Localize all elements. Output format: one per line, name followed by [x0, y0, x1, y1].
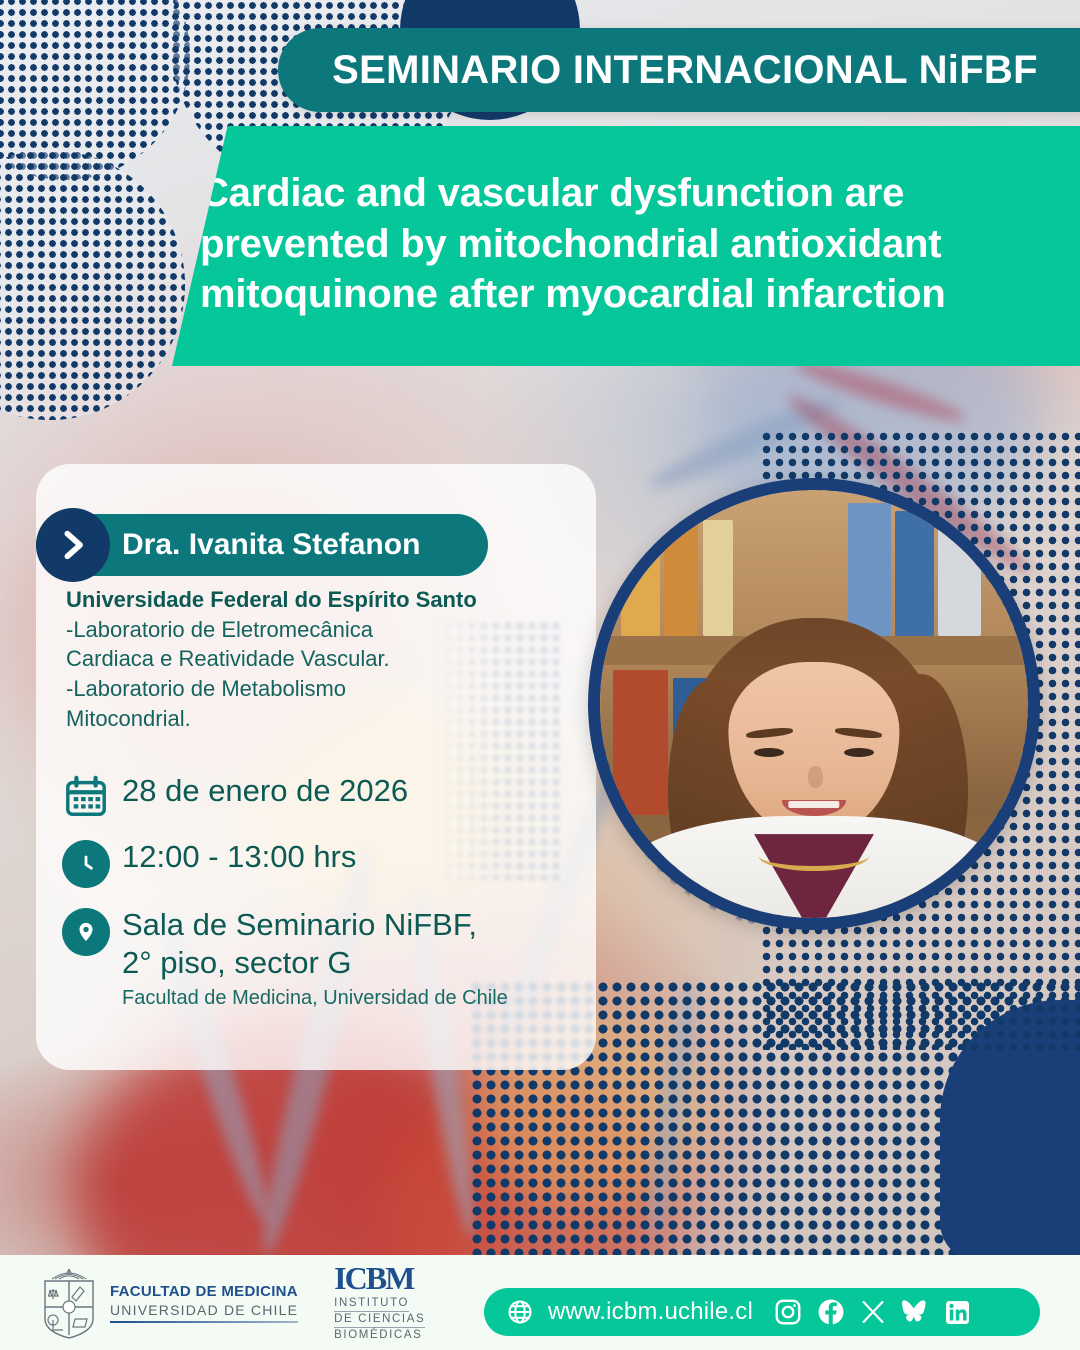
icbm-sub-2: DE CIENCIAS	[334, 1312, 425, 1328]
x-twitter-icon[interactable]	[859, 1298, 887, 1326]
globe-icon	[506, 1298, 534, 1326]
event-time: 12:00 - 13:00 hrs	[114, 838, 356, 876]
affiliation-lab-line-1: -Laboratorio de Eletromecânica	[66, 615, 536, 645]
website-url[interactable]: www.icbm.uchile.cl	[548, 1298, 753, 1326]
bluesky-icon[interactable]	[900, 1297, 930, 1327]
event-date-row: 28 de enero de 2026	[58, 772, 578, 820]
event-place-row: Sala de Seminario NiFBF, 2° piso, sector…	[58, 906, 578, 1010]
header-banner: SEMINARIO INTERNACIONAL NiFBF	[278, 28, 1080, 112]
uchile-logo: FACULTAD DE MEDICINA UNIVERSIDAD DE CHIL…	[40, 1267, 298, 1339]
linkedin-icon[interactable]	[943, 1298, 972, 1327]
event-place-sub: Facultad de Medicina, Universidad de Chi…	[122, 986, 508, 1010]
uchile-line-2: UNIVERSIDAD DE CHILE	[110, 1302, 298, 1318]
chevron-right-icon	[36, 508, 110, 582]
affiliation-university: Universidade Federal do Espírito Santo	[66, 586, 536, 615]
title-line-1: Cardiac and vascular dysfunction are	[200, 168, 946, 219]
seminar-poster: SEMINARIO INTERNACIONAL NiFBF Cardiac an…	[0, 0, 1080, 1350]
icbm-logo: ICBM INSTITUTO DE CIENCIAS BIOMÉDICAS	[334, 1262, 425, 1344]
event-date: 28 de enero de 2026	[114, 772, 408, 810]
header-banner-title: SEMINARIO INTERNACIONAL NiFBF	[332, 48, 1044, 93]
uchile-underline	[110, 1321, 298, 1323]
event-details: 28 de enero de 2026 12:00 - 13:00 hrs	[58, 772, 578, 1028]
speaker-portrait	[588, 478, 1040, 930]
event-place-line-2: 2° piso, sector G	[122, 944, 508, 982]
event-time-row: 12:00 - 13:00 hrs	[58, 838, 578, 888]
clock-icon	[62, 840, 110, 888]
event-place-line-1: Sala de Seminario NiFBF,	[122, 906, 508, 944]
icbm-wordmark: ICBM	[334, 1262, 425, 1294]
title-line-3: mitoquinone after myocardial infarction	[200, 269, 946, 320]
location-pin-icon	[62, 908, 110, 956]
title-line-2: prevented by mitochondrial antioxidant	[200, 219, 946, 270]
instagram-icon[interactable]	[773, 1297, 803, 1327]
affiliation-lab-line-4: Mitocondrial.	[66, 704, 536, 734]
icbm-sub-1: INSTITUTO	[334, 1296, 409, 1312]
affiliation-lab-line-2: Cardiaca e Reatividade Vascular.	[66, 644, 536, 674]
website-social-bar[interactable]: www.icbm.uchile.cl	[484, 1288, 1040, 1336]
icbm-sub-3: BIOMÉDICAS	[334, 1329, 422, 1341]
speaker-name: Dra. Ivanita Stefanon	[122, 528, 420, 562]
university-shield-icon	[40, 1267, 98, 1339]
affiliation-lab-line-3: -Laboratorio de Metabolismo	[66, 674, 536, 704]
calendar-icon	[58, 772, 114, 820]
facebook-icon[interactable]	[816, 1297, 846, 1327]
uchile-line-1: FACULTAD DE MEDICINA	[110, 1283, 298, 1300]
seminar-title-block: Cardiac and vascular dysfunction are pre…	[172, 126, 1080, 366]
speaker-affiliation: Universidade Federal do Espírito Santo -…	[66, 586, 536, 733]
